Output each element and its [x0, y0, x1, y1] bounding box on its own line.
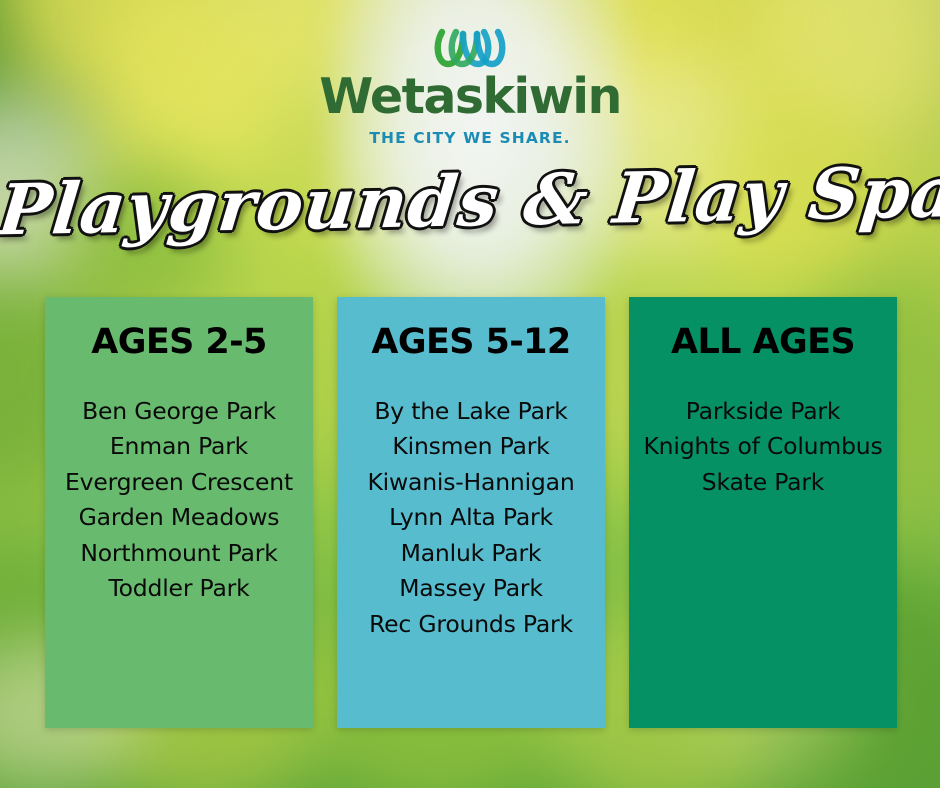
logo-wordmark: Wetaskiwin	[0, 72, 940, 122]
list-item: Ben George Park	[53, 394, 305, 430]
page-title: Playgrounds & Play Spaces	[0, 152, 940, 252]
list-item: Enman Park	[53, 429, 305, 465]
list-item: Lynn Alta Park	[345, 500, 597, 536]
list-item: Toddler Park	[53, 571, 305, 607]
column-ages-2-5: AGES 2-5 Ben George Park Enman Park Ever…	[45, 297, 313, 728]
logo-tagline: THE CITY WE SHARE.	[0, 129, 940, 147]
column-list: By the Lake Park Kinsmen Park Kiwanis-Ha…	[345, 394, 597, 643]
wetaskiwin-w-logo-icon	[432, 26, 508, 70]
city-logo: Wetaskiwin THE CITY WE SHARE.	[0, 26, 940, 147]
column-list: Parkside Park Knights of Columbus Skate …	[637, 394, 889, 501]
list-item: Evergreen Crescent	[53, 465, 305, 501]
page-title-text: Playgrounds & Play Spaces	[0, 142, 940, 259]
list-item: Skate Park	[637, 465, 889, 501]
list-item: Massey Park	[345, 571, 597, 607]
column-title: AGES 2-5	[53, 323, 305, 362]
list-item: By the Lake Park	[345, 394, 597, 430]
column-title: ALL AGES	[637, 323, 889, 362]
list-item: Knights of Columbus	[637, 429, 889, 465]
list-item: Northmount Park	[53, 536, 305, 572]
list-item: Parkside Park	[637, 394, 889, 430]
list-item: Kinsmen Park	[345, 429, 597, 465]
list-item: Rec Grounds Park	[345, 607, 597, 643]
playground-columns: AGES 2-5 Ben George Park Enman Park Ever…	[45, 297, 897, 728]
column-title: AGES 5-12	[345, 323, 597, 362]
list-item: Kiwanis-Hannigan	[345, 465, 597, 501]
column-ages-5-12: AGES 5-12 By the Lake Park Kinsmen Park …	[337, 297, 605, 728]
list-item: Manluk Park	[345, 536, 597, 572]
column-all-ages: ALL AGES Parkside Park Knights of Columb…	[629, 297, 897, 728]
list-item: Garden Meadows	[53, 500, 305, 536]
column-list: Ben George Park Enman Park Evergreen Cre…	[53, 394, 305, 607]
